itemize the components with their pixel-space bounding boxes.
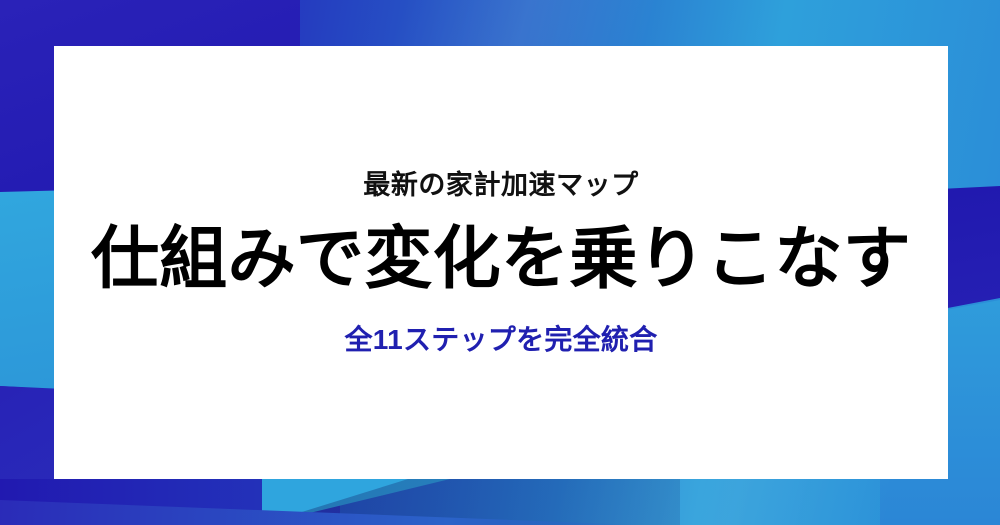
background-facet-bottom-mid-dark (260, 479, 680, 525)
background-facet-bottom-left-lower (0, 500, 640, 525)
eyebrow-text: 最新の家計加速マップ (363, 169, 638, 201)
kicker-text: 全11ステップを完全統合 (345, 323, 658, 357)
title-banner: 最新の家計加速マップ 仕組みで変化を乗りこなす 全11ステップを完全統合 (0, 0, 1000, 525)
background-facet-bottom-cyan-triangle (150, 479, 450, 525)
background-facet-bottom-right-sheen (560, 479, 1000, 525)
headline-text: 仕組みで変化を乗りこなす (91, 223, 911, 296)
background-facet-bottom-dark-left (0, 479, 420, 525)
content-card: 最新の家計加速マップ 仕組みで変化を乗りこなす 全11ステップを完全統合 (54, 46, 948, 479)
